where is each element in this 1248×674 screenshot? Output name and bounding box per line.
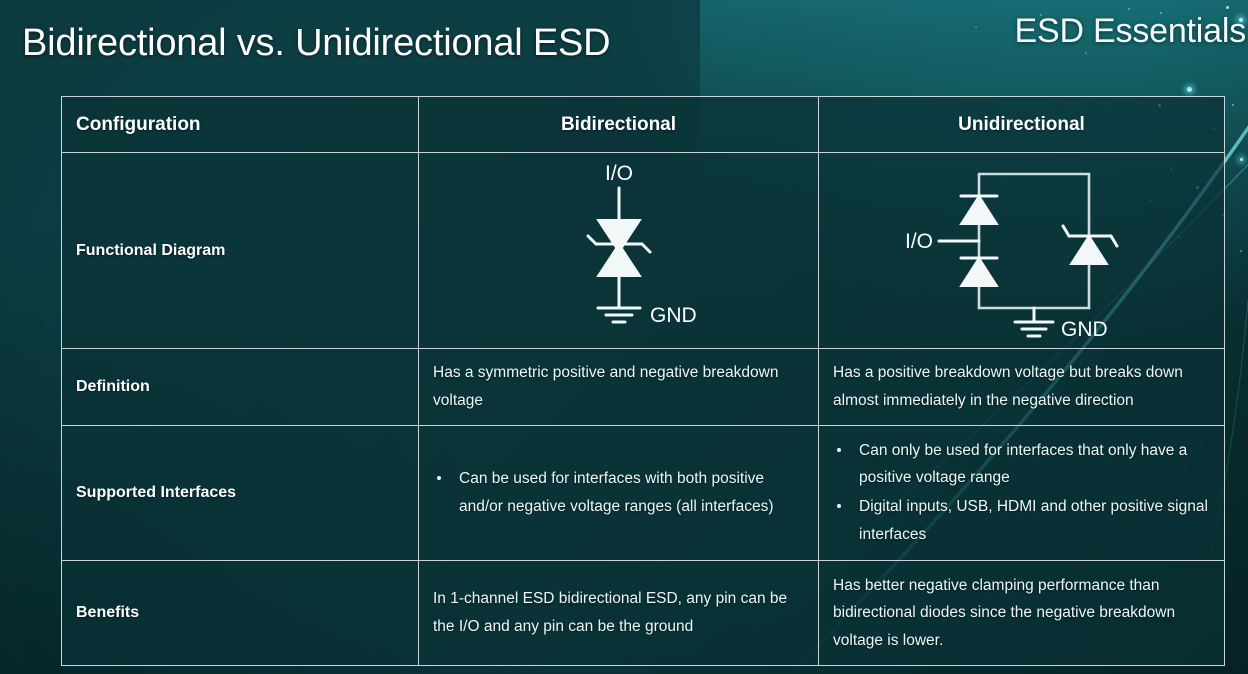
header-configuration: Configuration — [62, 97, 419, 153]
list-item: Digital inputs, USB, HDMI and other posi… — [833, 493, 1212, 548]
bullet-list-bidirectional: Can be used for interfaces with both pos… — [433, 465, 806, 520]
gnd-label: GND — [1061, 318, 1108, 341]
io-label: I/O — [604, 162, 632, 185]
table-row-supported-interfaces: Supported Interfaces Can be used for int… — [62, 426, 1225, 561]
row-label-functional-diagram: Functional Diagram — [62, 153, 419, 349]
slide-header: Bidirectional vs. Unidirectional ESD ESD… — [0, 0, 1248, 90]
io-label: I/O — [904, 230, 932, 253]
table-row-definition: Definition Has a symmetric positive and … — [62, 349, 1225, 426]
header-bidirectional: Bidirectional — [419, 97, 819, 153]
table-row-benefits: Benefits In 1-channel ESD bidirectional … — [62, 561, 1225, 666]
page-title: Bidirectional vs. Unidirectional ESD — [22, 22, 610, 65]
gnd-label: GND — [650, 304, 697, 327]
row-label-benefits: Benefits — [62, 561, 419, 666]
cell-benefits-bidirectional: In 1-channel ESD bidirectional ESD, any … — [419, 561, 819, 666]
header-unidirectional: Unidirectional — [819, 97, 1225, 153]
list-item: Can only be used for interfaces that onl… — [833, 437, 1212, 492]
bullet-list-unidirectional: Can only be used for interfaces that onl… — [833, 437, 1212, 548]
unidirectional-esd-diode-bridge-schematic: I/O GND — [893, 156, 1151, 346]
cell-definition-bidirectional: Has a symmetric positive and negative br… — [419, 349, 819, 426]
comparison-table: Configuration Bidirectional Unidirection… — [61, 96, 1225, 666]
bidirectional-tvs-diode-schematic: I/O GND — [514, 158, 724, 344]
table-row-functional-diagram: Functional Diagram — [62, 153, 1225, 349]
table-header-row: Configuration Bidirectional Unidirection… — [62, 97, 1225, 153]
cell-unidirectional-diagram: I/O GND — [819, 153, 1225, 349]
cell-interfaces-unidirectional: Can only be used for interfaces that onl… — [819, 426, 1225, 561]
list-item: Can be used for interfaces with both pos… — [433, 465, 806, 520]
cell-bidirectional-diagram: I/O GND — [419, 153, 819, 349]
comparison-table-container: Configuration Bidirectional Unidirection… — [61, 96, 1224, 666]
row-label-supported-interfaces: Supported Interfaces — [62, 426, 419, 561]
cell-interfaces-bidirectional: Can be used for interfaces with both pos… — [419, 426, 819, 561]
row-label-definition: Definition — [62, 349, 419, 426]
cell-definition-unidirectional: Has a positive breakdown voltage but bre… — [819, 349, 1225, 426]
cell-benefits-unidirectional: Has better negative clamping performance… — [819, 561, 1225, 666]
series-title: ESD Essentials — [1014, 12, 1246, 51]
